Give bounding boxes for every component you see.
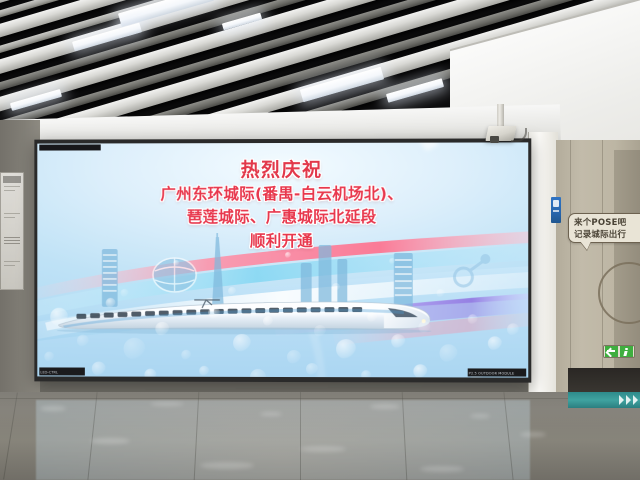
bokeh-dot xyxy=(173,260,179,266)
bokeh-dot xyxy=(155,322,169,336)
bokeh-dot xyxy=(287,350,301,364)
led-panel-top-strip xyxy=(39,144,100,150)
bokeh-dot xyxy=(314,325,326,337)
bokeh-dot xyxy=(208,307,220,319)
bokeh-dot xyxy=(199,366,209,376)
led-panel-tag-right: P2.5 OUTDOOR MODULE xyxy=(468,368,527,376)
headline-line-2: 琶莲城际、广惠城际北延段 xyxy=(37,209,528,227)
bokeh-dot xyxy=(121,289,129,297)
bokeh-dot xyxy=(124,338,146,360)
bokeh-dot xyxy=(106,298,116,308)
floor-dark-corner xyxy=(568,368,640,394)
station-concourse-scene: 热烈庆祝 广州东环城际(番禺-白云机场北)、 琶莲城际、广惠城际北延段 顺利开通… xyxy=(0,0,640,480)
blue-info-sign[interactable] xyxy=(551,197,561,223)
left-arrow-icon xyxy=(605,346,618,357)
announcement-text: 热烈庆祝 广州东环城际(番禺-白云机场北)、 琶莲城际、广惠城际北延段 顺利开通 xyxy=(37,158,528,251)
bokeh-dot xyxy=(468,314,478,324)
bokeh-dot xyxy=(50,308,68,326)
bokeh-dot xyxy=(228,287,236,295)
bokeh-dot xyxy=(233,334,251,352)
bokeh-dot xyxy=(332,283,340,291)
chevron-right-icon xyxy=(633,395,638,405)
speech-bubble-line-1: 来个POSE吧 xyxy=(574,217,640,229)
bokeh-dot xyxy=(306,363,318,375)
led-panel-tag-left: LED-CTRL xyxy=(39,367,85,375)
notice-poster xyxy=(0,172,24,290)
led-panel-tag-right-text: P2.5 OUTDOOR MODULE xyxy=(469,370,515,374)
bokeh-dot xyxy=(488,336,502,350)
bokeh-dot xyxy=(507,323,519,335)
bokeh-dot xyxy=(361,370,371,377)
pillar-center-right xyxy=(528,132,558,412)
bokeh-dot xyxy=(144,369,156,378)
headline-line-3: 顺利开通 xyxy=(37,233,528,251)
high-speed-train-graphic xyxy=(37,281,528,352)
led-screen-surface: 热烈庆祝 广州东环城际(番禺-白云机场北)、 琶莲城际、广惠城际北延段 顺利开通… xyxy=(37,142,528,377)
bokeh-dot xyxy=(367,312,377,322)
floor xyxy=(0,392,640,480)
chevron-right-icon xyxy=(626,395,631,405)
bokeh-dot xyxy=(92,362,106,376)
speech-bubble-graphic: 来个POSE吧 记录城际出行 xyxy=(568,213,640,243)
bokeh-dot xyxy=(285,252,291,258)
chevron-right-icon xyxy=(619,395,624,405)
bokeh-dot xyxy=(418,321,430,333)
bokeh-dot xyxy=(77,335,89,347)
led-display-wall[interactable]: 热烈庆祝 广州东环城际(番禺-白云机场北)、 琶莲城际、广惠城际北延段 顺利开通… xyxy=(34,138,531,382)
bokeh-dot xyxy=(181,350,191,360)
bokeh-dot xyxy=(336,339,356,359)
bokeh-dot xyxy=(263,316,273,326)
floor-teal-marking xyxy=(568,392,640,408)
bokeh-dot xyxy=(391,334,405,348)
headline-line-1: 广州东环城际(番禺-白云机场北)、 xyxy=(37,186,528,205)
emergency-exit-sign xyxy=(603,345,635,358)
bokeh-dot xyxy=(413,364,427,377)
bokeh-dot xyxy=(44,352,54,362)
bokeh-dot xyxy=(440,344,458,362)
led-panel-tag-left-text: LED-CTRL xyxy=(40,369,58,373)
bokeh-dot xyxy=(436,289,444,297)
speech-bubble-line-2: 记录城际出行 xyxy=(574,229,640,241)
running-man-icon xyxy=(620,346,633,357)
bokeh-dot xyxy=(389,258,395,264)
headline-title: 热烈庆祝 xyxy=(37,158,528,181)
